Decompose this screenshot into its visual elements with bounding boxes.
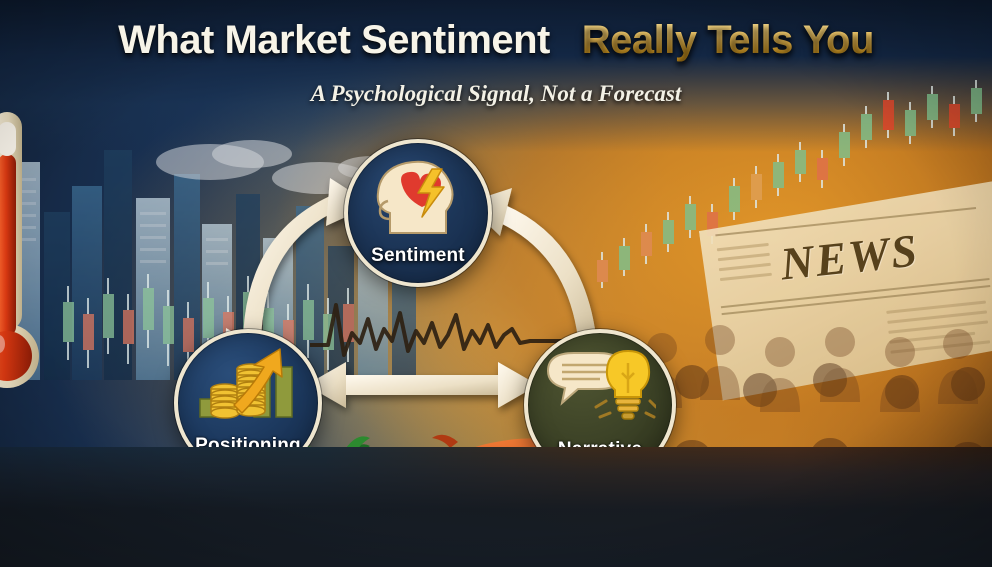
page-subtitle: A Psychological Signal, Not a Forecast <box>0 81 992 107</box>
title-white-part: What Market Sentiment <box>118 18 550 62</box>
title-gold-part: Really Tells You <box>582 18 874 62</box>
infographic-canvas: NEWS <box>0 0 992 567</box>
page-title: What Market Sentiment Really Tells You <box>0 18 992 63</box>
